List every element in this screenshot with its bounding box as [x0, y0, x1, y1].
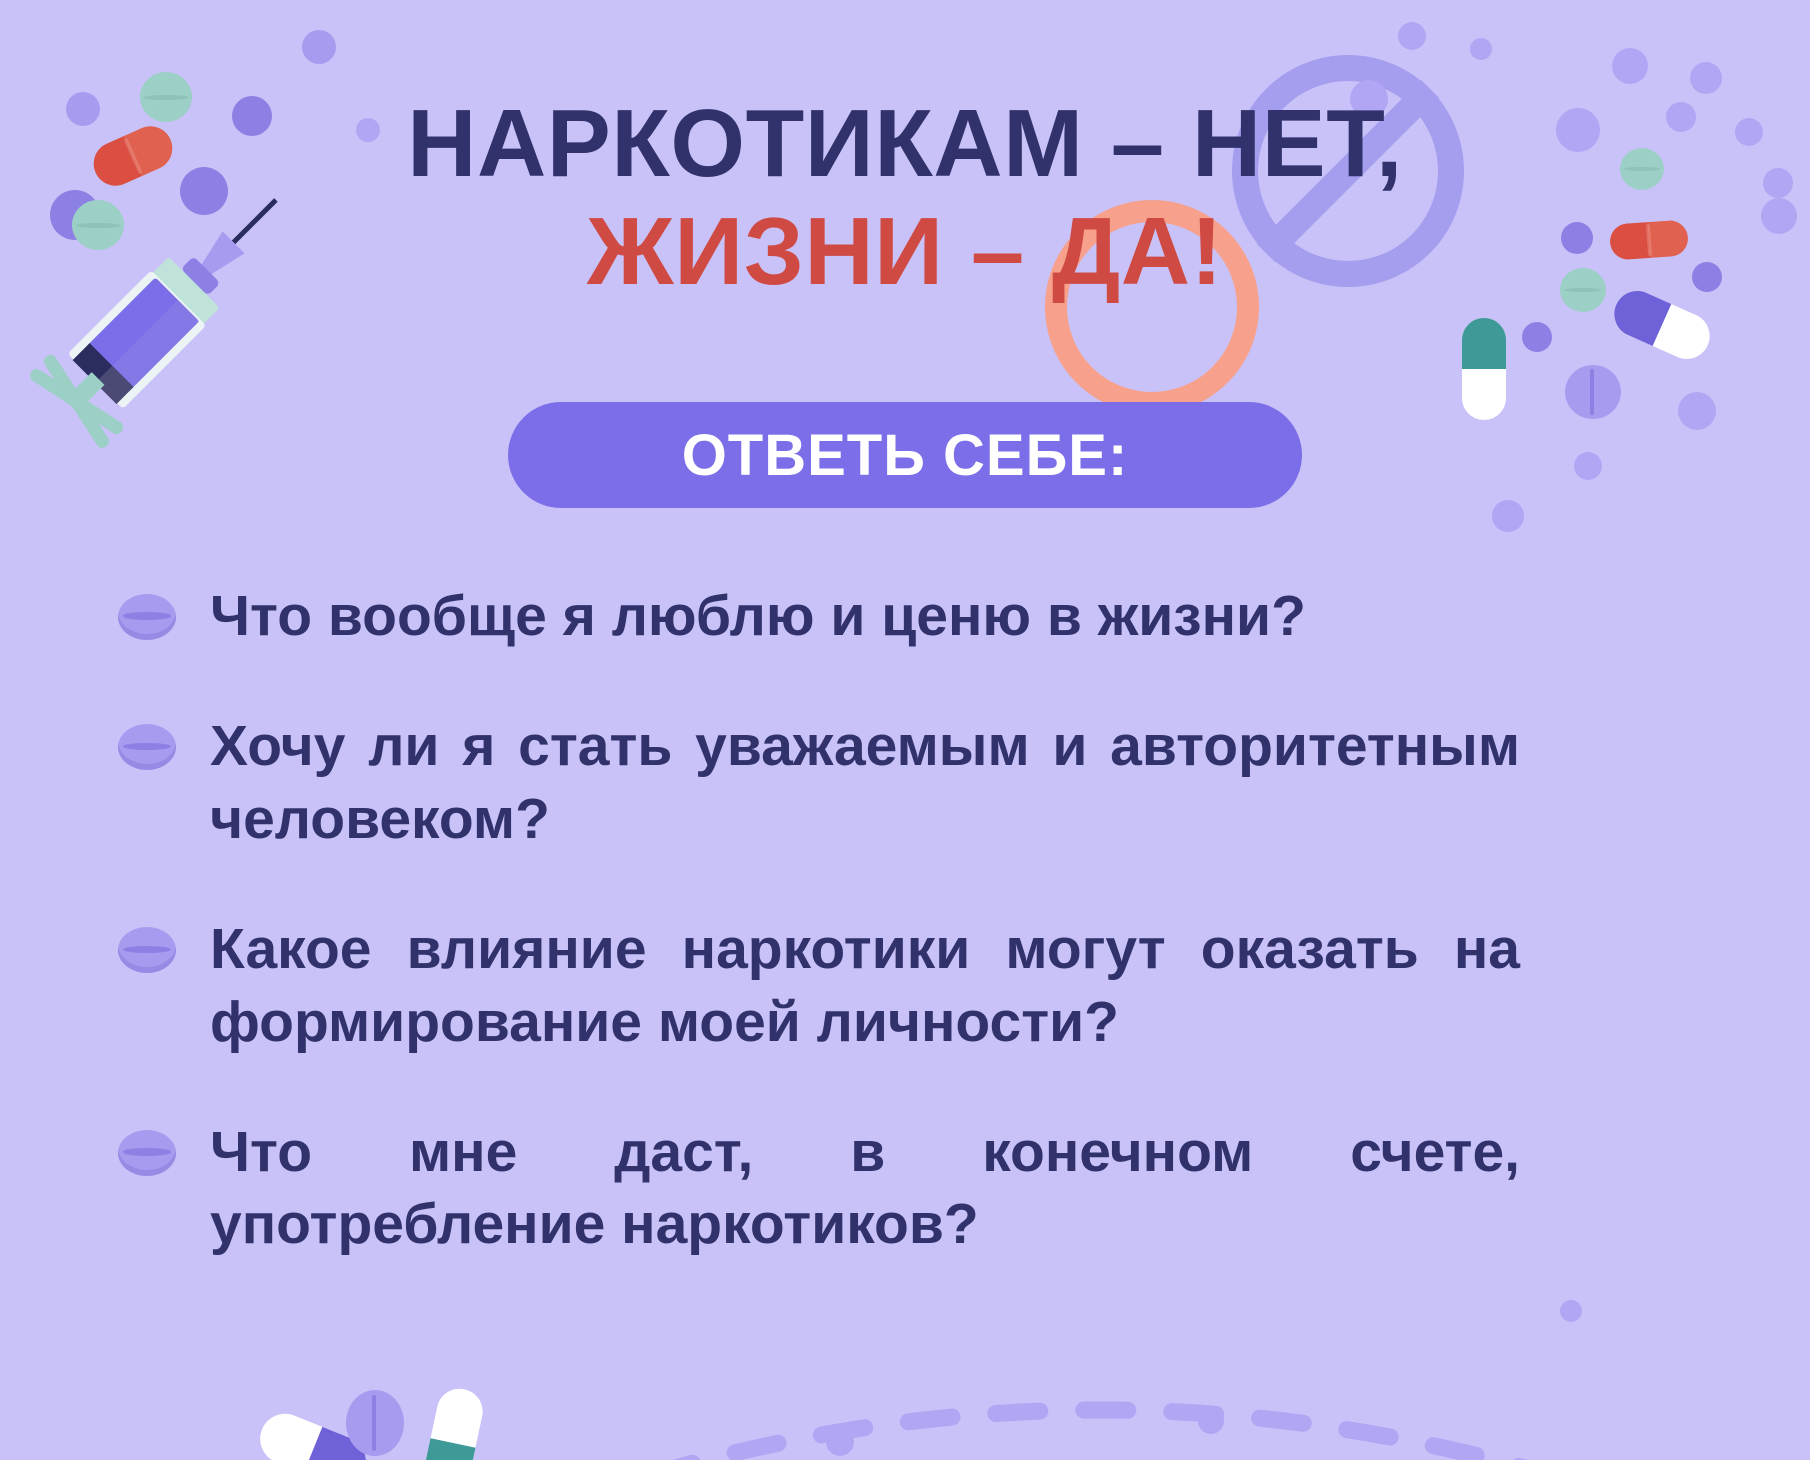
question-text: Что вообще я люблю и ценю в жизни?: [210, 580, 1306, 652]
page-title: НАРКОТИКАМ – НЕТ, ЖИЗНИ – ДА!: [0, 96, 1810, 300]
pill-bullet-icon: [118, 724, 176, 770]
question-list: Что вообще я люблю и ценю в жизни? Хочу …: [118, 580, 1720, 1319]
answer-yourself-label: ОТВЕТЬ СЕБЕ:: [682, 422, 1129, 489]
list-item: Что мне даст, в конечном счете, употребл…: [118, 1116, 1720, 1261]
pill-bullet-icon: [118, 1130, 176, 1176]
poster-canvas: НАРКОТИКАМ – НЕТ, ЖИЗНИ – ДА! ОТВЕТЬ СЕБ…: [0, 0, 1810, 1460]
list-item: Что вообще я люблю и ценю в жизни?: [118, 580, 1720, 652]
question-text: Хочу ли я стать уважаемым и авторитетным…: [210, 710, 1520, 855]
title-line-2: ЖИЗНИ – ДА!: [0, 204, 1810, 300]
title-line-1: НАРКОТИКАМ – НЕТ,: [0, 96, 1810, 192]
list-item: Хочу ли я стать уважаемым и авторитетным…: [118, 710, 1720, 855]
question-text: Что мне даст, в конечном счете, употребл…: [210, 1116, 1520, 1261]
list-item: Какое влияние наркотики могут оказать на…: [118, 913, 1720, 1058]
pill-bullet-icon: [118, 927, 176, 973]
content-layer: НАРКОТИКАМ – НЕТ, ЖИЗНИ – ДА! ОТВЕТЬ СЕБ…: [0, 0, 1810, 1460]
pill-bullet-icon: [118, 594, 176, 640]
answer-yourself-banner: ОТВЕТЬ СЕБЕ:: [508, 402, 1302, 508]
question-text: Какое влияние наркотики могут оказать на…: [210, 913, 1520, 1058]
